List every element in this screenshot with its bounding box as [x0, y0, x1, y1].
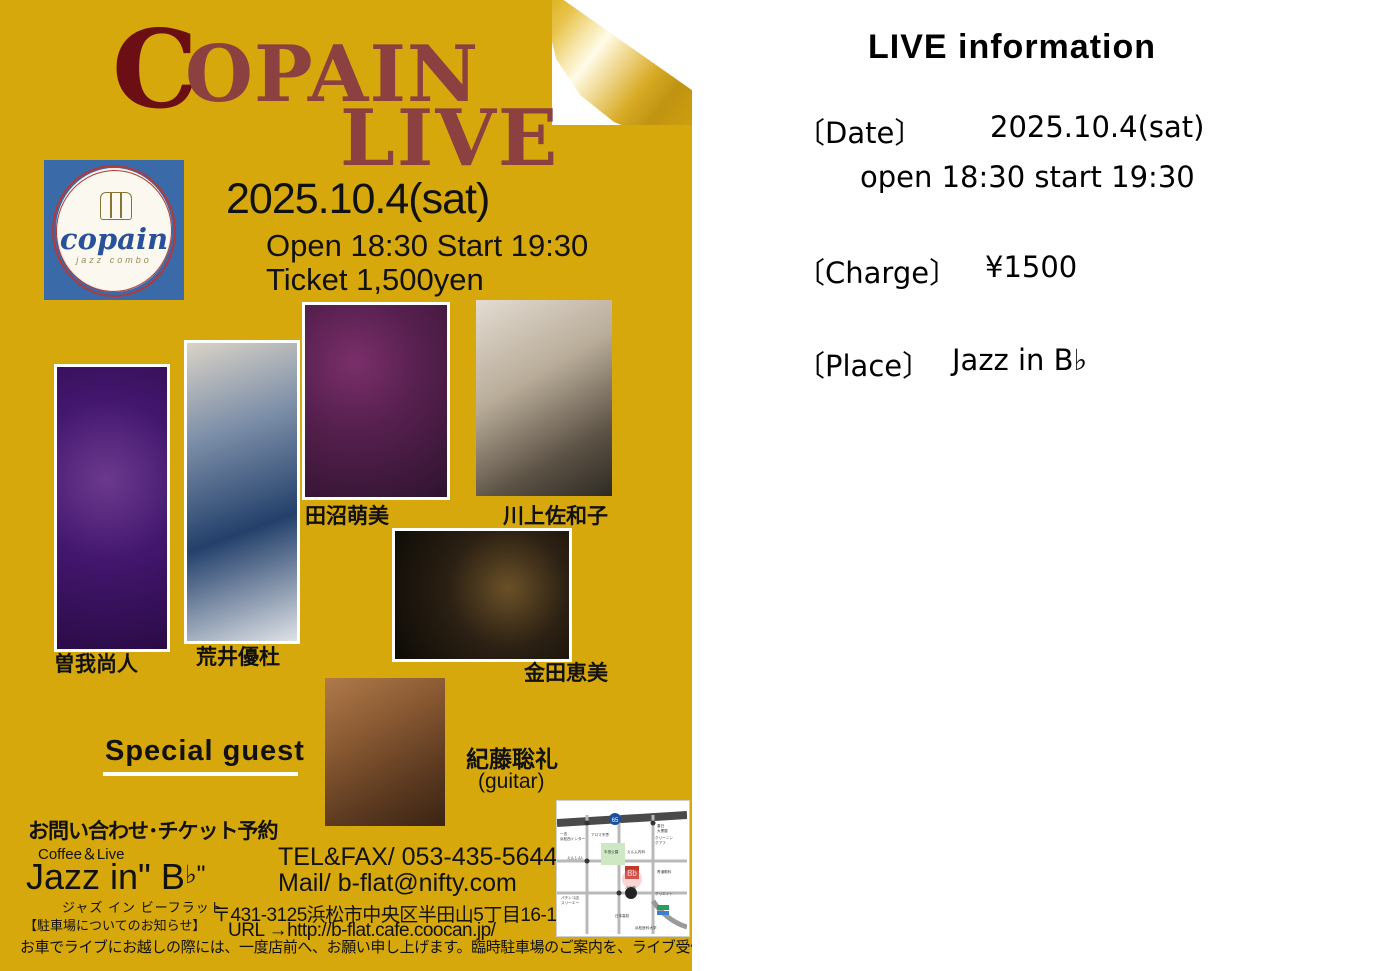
- member-photo-kawakami: [476, 300, 612, 496]
- logo-subtitle: jazz combo: [44, 255, 184, 265]
- svg-text:パチンコ店: パチンコ店: [561, 895, 579, 900]
- member-name-tanuma: 田沼萌美: [305, 500, 389, 530]
- special-guest-underline: [103, 772, 298, 776]
- member-name-arai: 荒井優杜: [196, 641, 280, 671]
- logo-wordmark: copain: [44, 222, 184, 256]
- member-photo-arai: [184, 340, 300, 644]
- info-value-times: open 18:30 start 19:30: [860, 160, 1195, 194]
- svg-text:青道眼科: 青道眼科: [657, 869, 672, 874]
- svg-text:浜松西インター: 浜松西インター: [560, 836, 586, 841]
- contact-mail[interactable]: Mail/ b-flat@nifty.com: [278, 869, 517, 898]
- svg-text:えんしんL: えんしんL: [567, 855, 583, 860]
- svg-text:クリエイト: クリエイト: [655, 891, 673, 896]
- live-information-panel: LIVE information 〔Date〕 2025.10.4(sat) o…: [700, 0, 1376, 971]
- info-label-place: 〔Place〕: [796, 343, 931, 385]
- svg-text:半田公園: 半田公園: [604, 849, 619, 854]
- venue-name-kana: ジャズ イン ビーフラット: [62, 897, 224, 916]
- flat-symbol: ♭": [185, 861, 206, 889]
- contact-tel[interactable]: TEL&FAX/ 053-435-5644: [278, 843, 557, 872]
- bread-icon: [100, 192, 132, 220]
- svg-text:65: 65: [612, 818, 619, 824]
- svg-text:スリーエー: スリーエー: [561, 900, 579, 905]
- member-name-kawakami: 川上佐和子: [503, 500, 608, 530]
- parking-heading: 【駐車場についてのお知らせ】: [24, 915, 205, 934]
- svg-text:大黒屋: 大黒屋: [657, 828, 668, 833]
- poster-title-initial: C: [112, 16, 196, 124]
- info-panel-title: LIVE information: [868, 28, 1156, 67]
- svg-text:グアフ: グアフ: [655, 840, 666, 845]
- live-poster: C OPAIN LIVE copain jazz combo 2025.10.4…: [0, 0, 692, 971]
- poster-ticket: Ticket 1,500yen: [266, 262, 484, 298]
- info-value-date: 2025.10.4(sat): [990, 110, 1204, 144]
- info-value-charge: ¥1500: [985, 250, 1077, 284]
- poster-title-live: LIVE: [340, 100, 559, 178]
- contact-heading: お問い合わせ･チケット予約: [28, 815, 278, 845]
- svg-text:一言: 一言: [560, 831, 568, 836]
- venue-name: Jazz in" B♭": [26, 856, 206, 898]
- special-guest-name: 紀藤聡礼: [466, 740, 558, 774]
- map-svg: 65 Bb 一言浜松西インター アロマ不思春日大黒屋 クリーニングアフ 半田公園…: [557, 801, 687, 934]
- info-label-charge: 〔Charge〕: [796, 250, 958, 292]
- poster-times: Open 18:30 Start 19:30: [266, 228, 588, 264]
- special-guest-instrument: (guitar): [478, 770, 545, 794]
- info-label-date: 〔Date〕: [796, 110, 923, 152]
- special-guest-photo: [325, 678, 445, 826]
- page-curl-decoration: [552, 0, 692, 125]
- poster-date: 2025.10.4(sat): [226, 175, 489, 224]
- member-name-kaneda: 金田恵美: [524, 657, 608, 687]
- svg-text:クリーニン: クリーニン: [655, 835, 673, 840]
- copain-logo: copain jazz combo: [44, 160, 184, 300]
- poster-page: C OPAIN LIVE copain jazz combo 2025.10.4…: [0, 0, 1376, 971]
- special-guest-heading: Special guest: [105, 735, 305, 768]
- svg-text:日本高校: 日本高校: [615, 913, 630, 918]
- member-name-soga: 曽我尚人: [54, 648, 138, 678]
- svg-text:浜松医科大学: 浜松医科大学: [635, 925, 657, 930]
- venue-name-text: Jazz in" B: [26, 856, 185, 897]
- access-map: 65 Bb 一言浜松西インター アロマ不思春日大黒屋 クリーニングアフ 半田公園…: [556, 800, 690, 937]
- svg-text:えんム内科: えんム内科: [627, 849, 645, 854]
- member-photo-tanuma: [302, 302, 450, 500]
- svg-text:バス停: バス停: [625, 885, 636, 890]
- parking-body: お車でライブにお越しの際には、一度店前へ、お願い申し上げます。臨時駐車場のご案内…: [20, 936, 692, 957]
- svg-text:アロマ不思: アロマ不思: [591, 832, 609, 837]
- info-value-place: Jazz in B♭: [952, 343, 1087, 377]
- svg-text:春日: 春日: [657, 823, 664, 828]
- member-photo-kaneda: [392, 528, 572, 662]
- member-photo-soga: [54, 364, 170, 652]
